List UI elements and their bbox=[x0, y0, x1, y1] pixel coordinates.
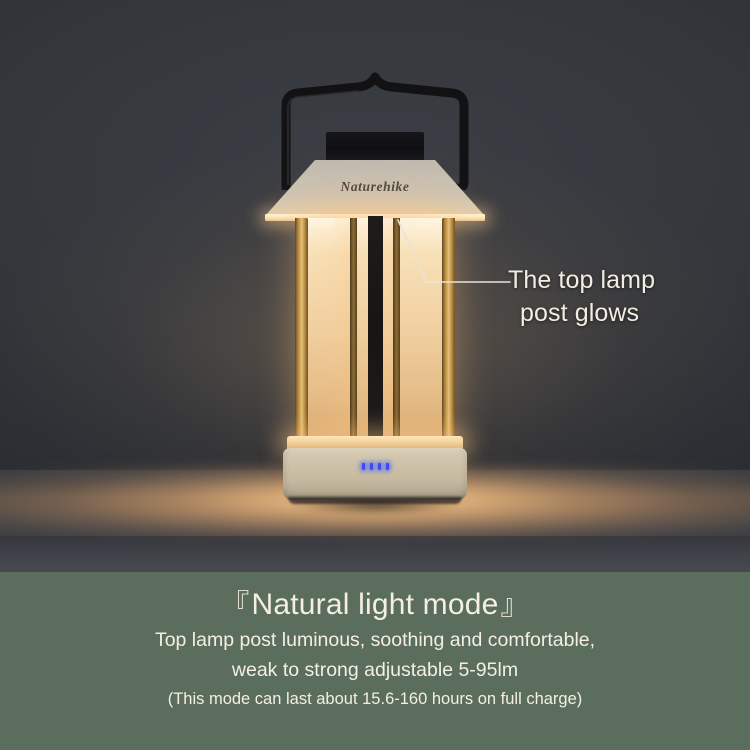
lamp-shade: Naturehike bbox=[265, 160, 485, 216]
battery-led bbox=[362, 463, 365, 470]
battery-led bbox=[370, 463, 373, 470]
light-panel-right bbox=[399, 218, 443, 440]
lamp-post-outer-left bbox=[295, 218, 308, 440]
mode-name: Natural light mode bbox=[251, 588, 498, 621]
callout-label: The top lamp post glows bbox=[508, 264, 740, 330]
light-panel-left bbox=[307, 218, 351, 440]
lantern-product-photo: Naturehike bbox=[0, 0, 750, 572]
caption-runtime-note: (This mode can last about 15.6-160 hours… bbox=[0, 686, 750, 712]
bracket-close: 』 bbox=[499, 589, 531, 620]
bracket-open: 『 bbox=[219, 589, 251, 620]
lamp-base bbox=[283, 448, 467, 500]
lamp-post-inner-right bbox=[393, 218, 400, 440]
table-front-edge bbox=[0, 536, 750, 572]
center-divider-column bbox=[368, 216, 383, 442]
callout-line-1: The top lamp bbox=[508, 266, 655, 294]
callout-line-2: post glows bbox=[508, 297, 740, 330]
caption-sub-line-1: Top lamp post luminous, soothing and com… bbox=[0, 625, 750, 655]
product-ad-image: Naturehike bbox=[0, 0, 750, 750]
caption-sub-line-2: weak to strong adjustable 5-95lm bbox=[0, 655, 750, 685]
naturehike-wordmark: Naturehike bbox=[265, 179, 485, 195]
lamp-post-inner-left bbox=[350, 218, 357, 440]
mode-headline: 『Natural light mode』 bbox=[0, 585, 750, 625]
battery-led bbox=[386, 463, 389, 470]
solar-charging-panel bbox=[326, 132, 424, 163]
battery-led bbox=[378, 463, 381, 470]
lamp-post-cage bbox=[293, 218, 457, 440]
lamp-post-outer-right bbox=[442, 218, 455, 440]
battery-indicator-leds bbox=[283, 463, 467, 470]
caption-panel: 『Natural light mode』 Top lamp post lumin… bbox=[0, 572, 750, 750]
